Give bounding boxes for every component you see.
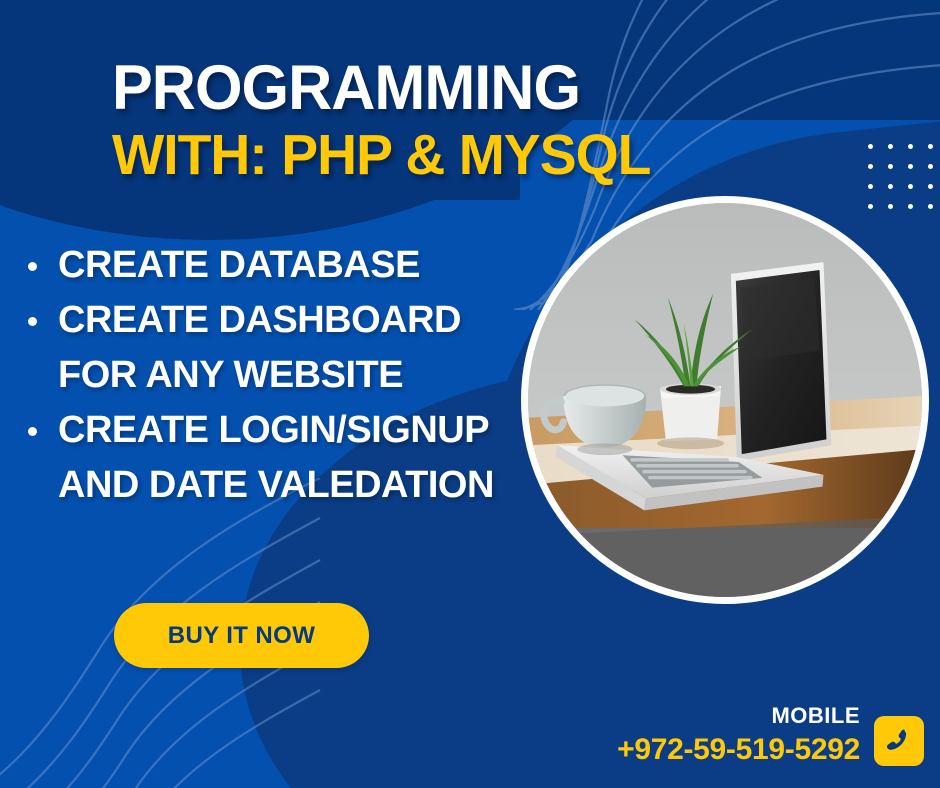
buy-it-now-button[interactable]: BUY IT NOW	[114, 603, 369, 668]
phone-icon[interactable]	[874, 716, 924, 766]
hero-photo-frame	[521, 196, 929, 604]
contact-block: MOBILE +972-59-519-5292	[617, 704, 924, 768]
phone-number[interactable]: +972-59-519-5292	[617, 732, 860, 768]
promo-poster: PROGRAMMING WITH: PHP & MYSQL CREATE DAT…	[0, 0, 940, 788]
contact-text: MOBILE +972-59-519-5292	[617, 704, 860, 768]
headline-primary: PROGRAMMING	[112, 56, 694, 120]
laptop-workspace-photo	[528, 203, 922, 597]
list-item: CREATE DASHBOARD FOR ANY WEBSITE	[14, 293, 554, 403]
headline-block: PROGRAMMING WITH: PHP & MYSQL	[112, 56, 712, 184]
list-item: CREATE DATABASE	[14, 238, 554, 293]
feature-list: CREATE DATABASE CREATE DASHBOARD FOR ANY…	[14, 238, 554, 513]
mobile-label: MOBILE	[617, 704, 860, 728]
dot-grid-icon	[868, 144, 940, 224]
headline-secondary: WITH: PHP & MYSQL	[112, 126, 694, 184]
list-item: CREATE LOGIN/SIGNUP AND DATE VALEDATION	[14, 403, 554, 513]
